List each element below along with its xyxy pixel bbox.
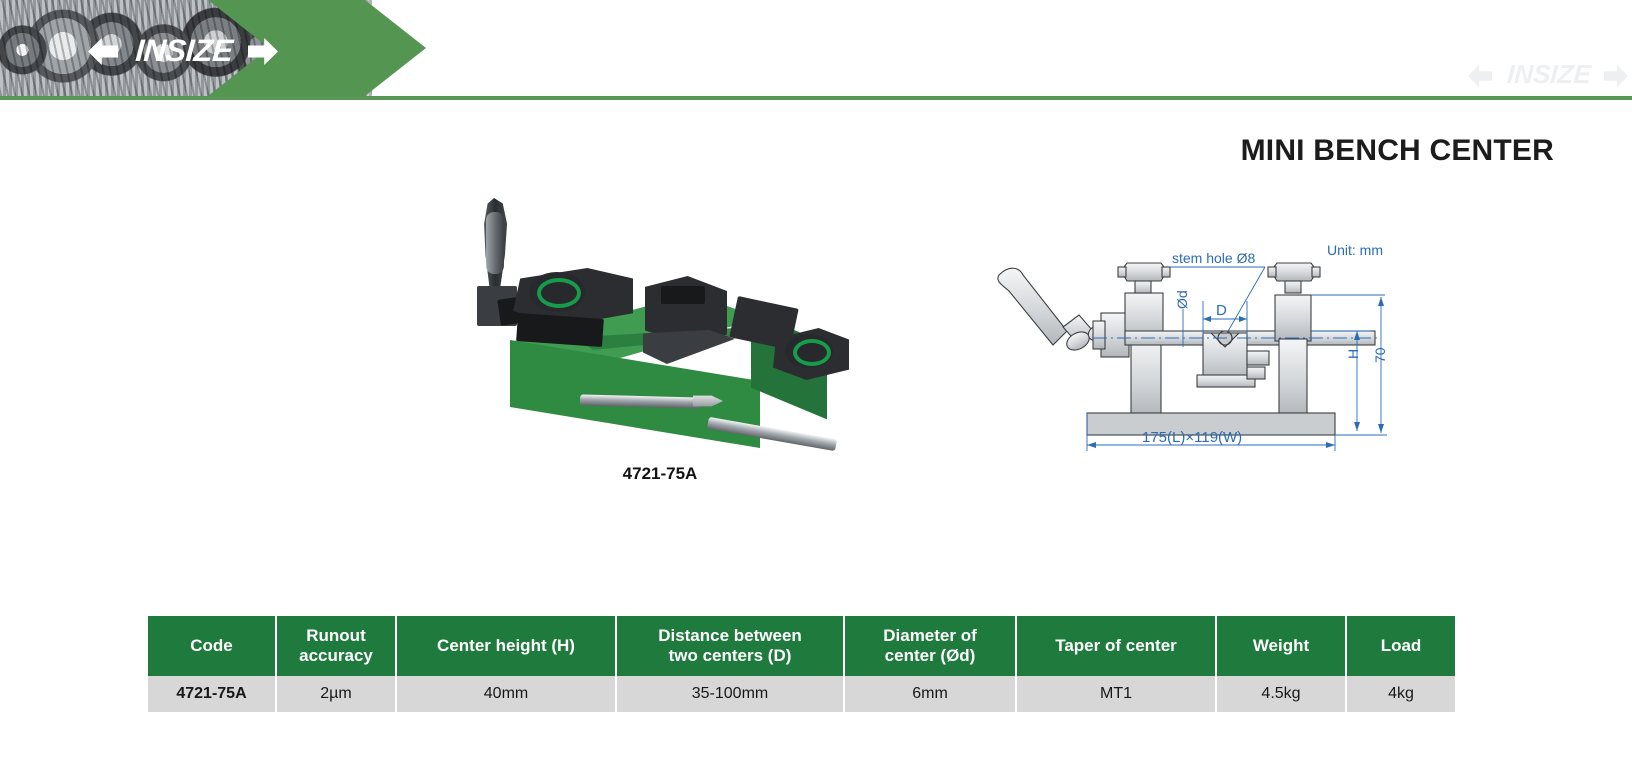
dimension-label-D: D	[1216, 302, 1227, 319]
header-green-rule	[0, 96, 1632, 100]
cell-load: 4kg	[1346, 676, 1455, 712]
column-header-diameter-of-center: Diameter of center (Ød)	[844, 616, 1016, 676]
base-front-face	[510, 340, 760, 448]
header-line-1: Runout	[306, 626, 365, 645]
watermark-wordmark: INSIZE	[1489, 58, 1609, 90]
dimension-label-H: H	[1345, 349, 1361, 359]
middle-vblock-notch	[661, 286, 705, 304]
product-caption: 4721-75A	[455, 464, 865, 484]
dimension-label-70: 70	[1372, 347, 1388, 363]
header-line-1: Diameter of	[883, 626, 977, 645]
column-header-code: Code	[148, 616, 276, 676]
cell-center-height: 40mm	[396, 676, 616, 712]
header-line-1: Taper of center	[1055, 636, 1177, 655]
cell-distance-between-centers: 35-100mm	[616, 676, 844, 712]
header-line-1: Distance between	[658, 626, 802, 645]
column-header-load: Load	[1346, 616, 1455, 676]
cell-code: 4721-75A	[148, 676, 276, 712]
page-title: MINI BENCH CENTER	[1241, 134, 1554, 168]
table-header-row: Code Runout accuracy Center height (H) D…	[148, 616, 1455, 676]
cell-weight: 4.5kg	[1216, 676, 1346, 712]
indicator-probe-highlight	[486, 212, 504, 274]
insize-logo: INSIZE	[88, 33, 278, 69]
cell-taper-of-center: MT1	[1016, 676, 1216, 712]
column-header-taper-of-center: Taper of center	[1016, 616, 1216, 676]
header-line-2: accuracy	[299, 646, 373, 665]
header-line-1: Code	[190, 636, 233, 655]
header-line-2: two centers (D)	[669, 646, 792, 665]
unit-label: Unit: mm	[1327, 242, 1383, 258]
dimension-label-footprint: 175(L)×119(W)	[1142, 429, 1242, 446]
column-header-runout-accuracy: Runout accuracy	[276, 616, 396, 676]
technical-drawing: Unit: mm stem hole Ø8 D Ød H 70 175(L)×1…	[975, 235, 1425, 470]
page-header: INSIZE	[0, 0, 1632, 100]
insize-watermark-logo: INSIZE	[1468, 60, 1628, 90]
header-line-1: Load	[1381, 636, 1422, 655]
left-clamp-foot	[516, 313, 604, 347]
column-header-distance-between-centers: Distance between two centers (D)	[616, 616, 844, 676]
stem-hole-label: stem hole Ø8	[1172, 250, 1255, 266]
specification-table: Code Runout accuracy Center height (H) D…	[148, 616, 1455, 712]
cell-runout-accuracy: 2µm	[276, 676, 396, 712]
header-line-1: Weight	[1253, 636, 1309, 655]
column-header-weight: Weight	[1216, 616, 1346, 676]
header-line-2: center (Ød)	[885, 646, 976, 665]
middle-vblock-base	[643, 330, 735, 364]
logo-wordmark: INSIZE	[113, 32, 256, 70]
product-datasheet-page: INSIZE INSIZE MINI BENCH CENTER	[0, 0, 1632, 784]
header-line-1: Center height (H)	[437, 636, 575, 655]
left-green-ring	[537, 278, 581, 308]
dimension-label-od: Ød	[1174, 290, 1190, 309]
cell-diameter-of-center: 6mm	[844, 676, 1016, 712]
right-green-ring	[793, 339, 831, 366]
column-header-center-height: Center height (H)	[396, 616, 616, 676]
table-row: 4721-75A 2µm 40mm 35-100mm 6mm MT1 4.5kg…	[148, 676, 1455, 712]
product-photo	[455, 190, 865, 480]
